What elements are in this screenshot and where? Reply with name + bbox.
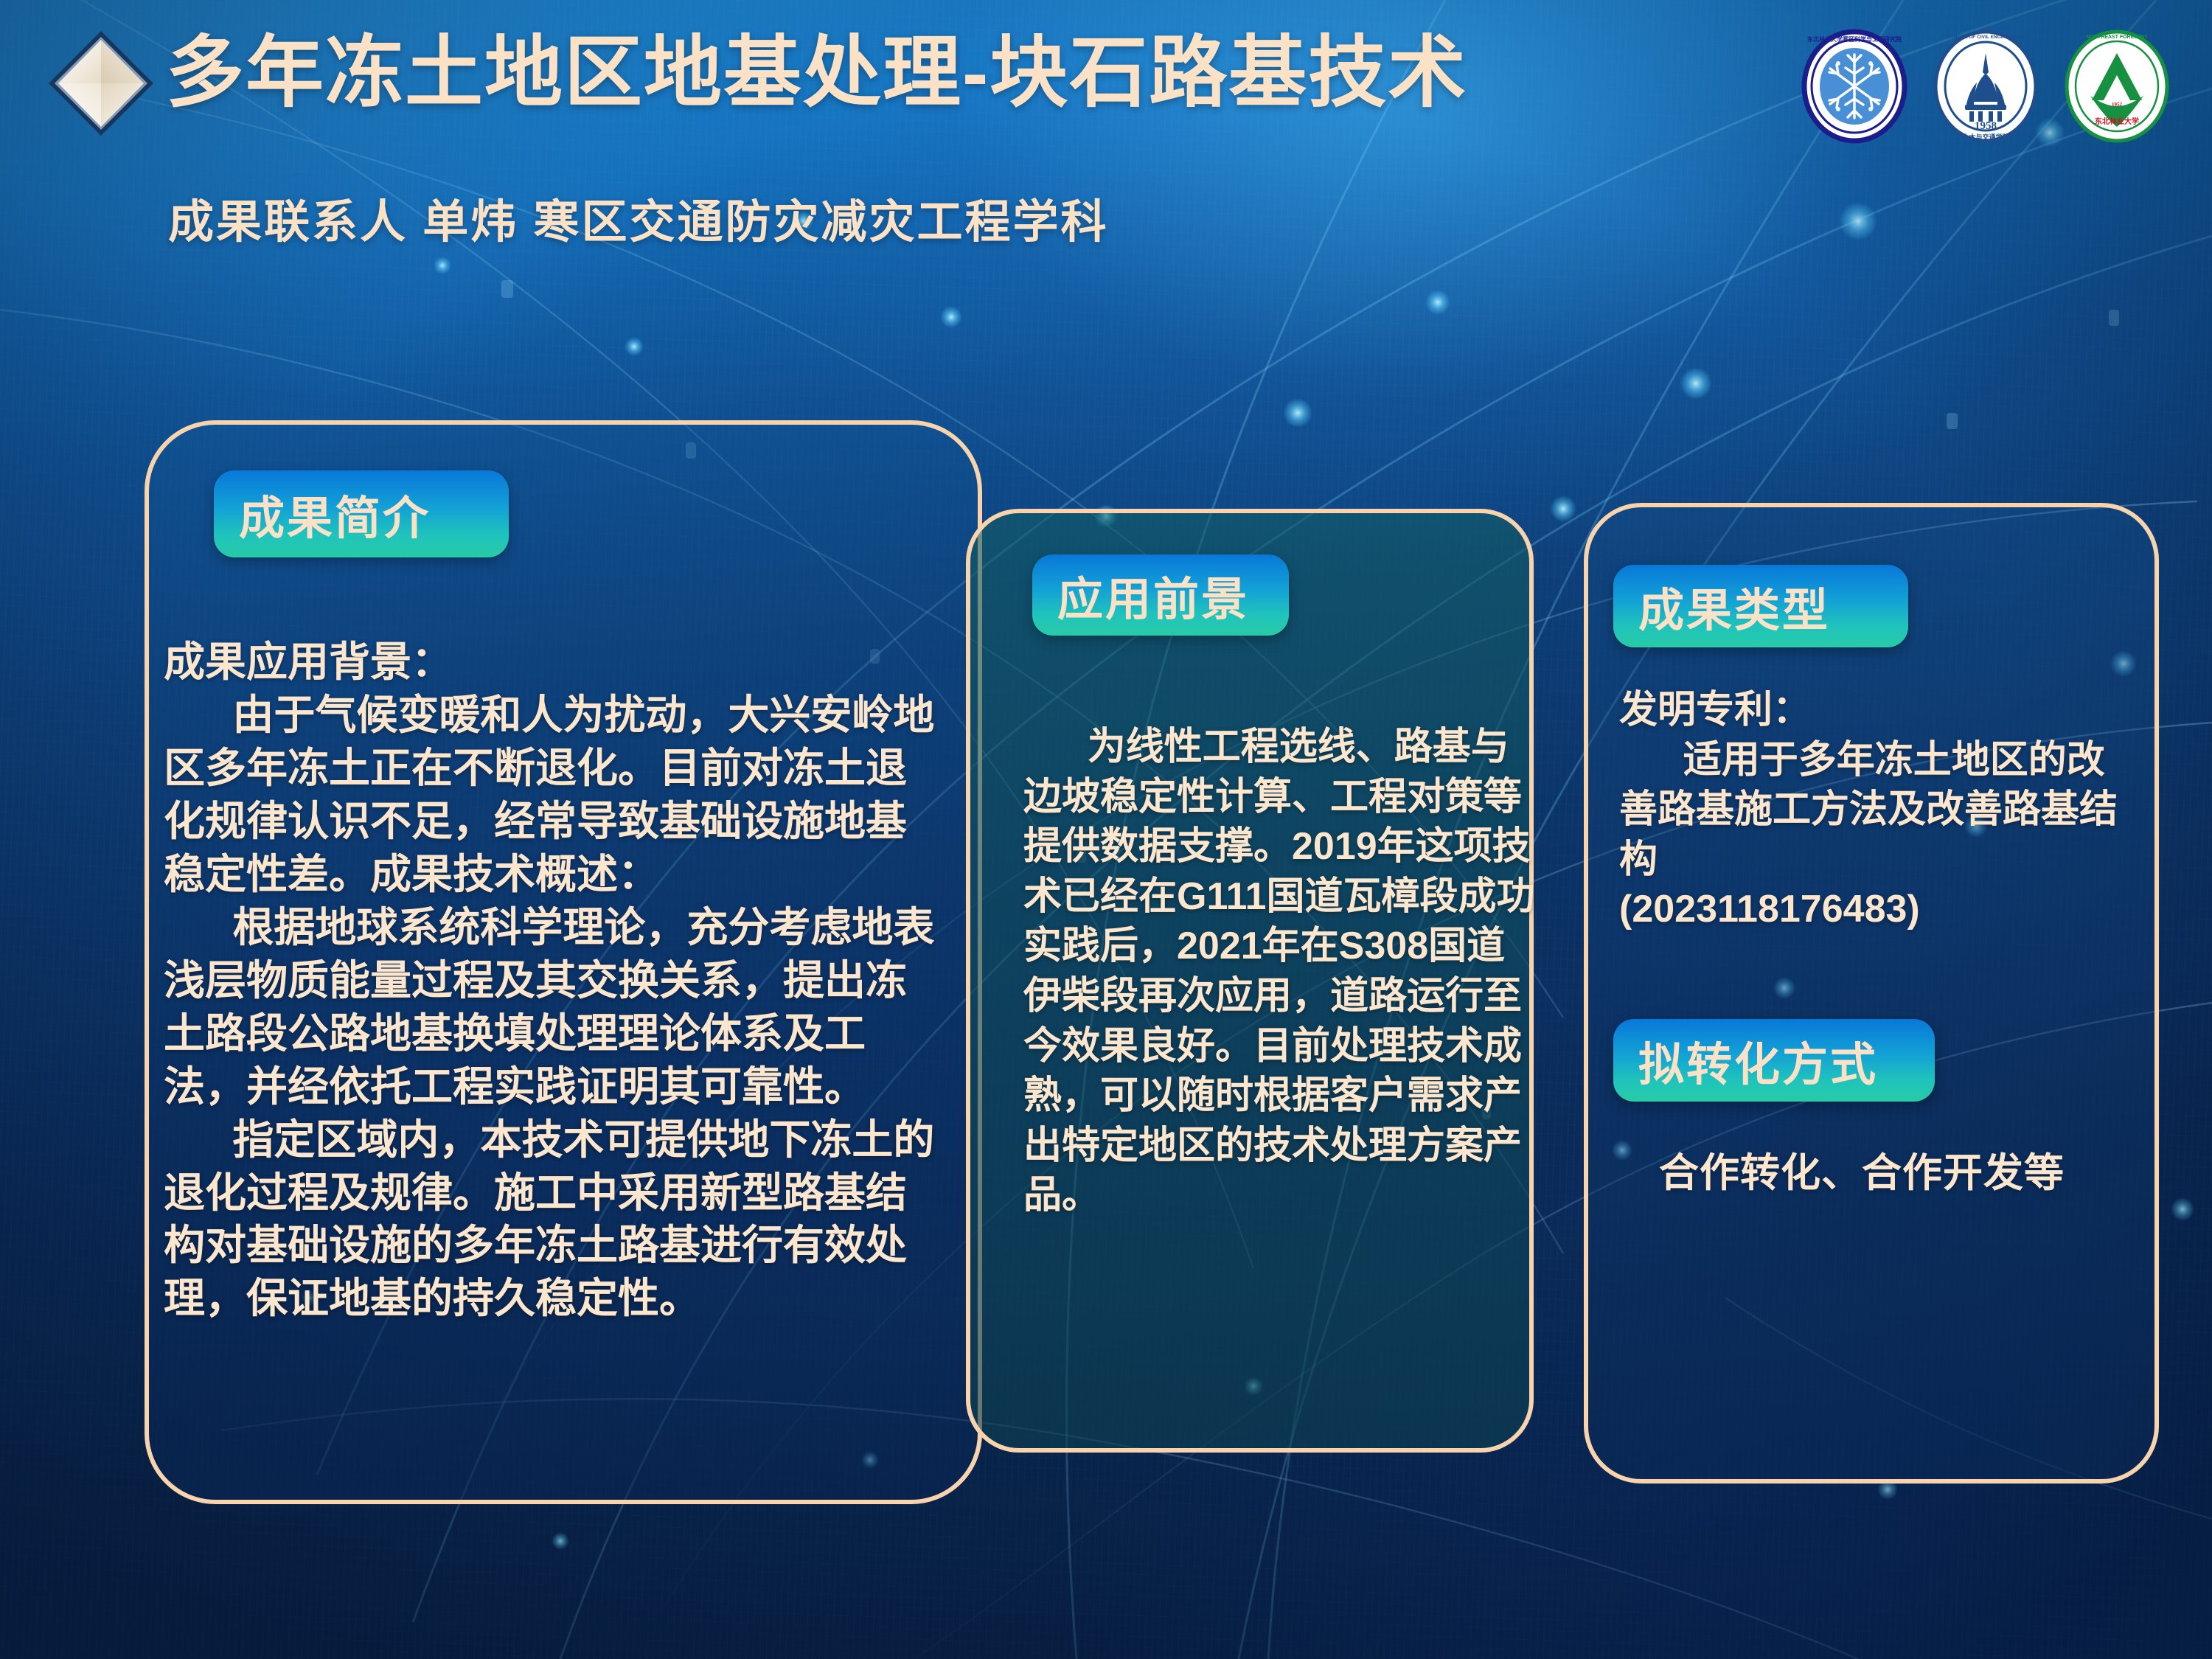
card-achievement-type <box>1584 503 2159 1484</box>
svg-text:土木与交通学院: 土木与交通学院 <box>1962 133 2008 141</box>
svg-text:东北林业大学: 东北林业大学 <box>2095 116 2139 126</box>
badge-transfer-method: 拟转化方式 <box>1613 1019 1935 1102</box>
text-application-prospect: 为线性工程选线、路基与边坡稳定性计算、工程对策等提供数据支撑。2019年这项技术… <box>1023 723 1540 1221</box>
text-achievement-type: 发明专利： 适用于多年冻土地区的改善路基施工方法及改善路基结构 (2023118… <box>1619 686 2135 935</box>
page-subtitle: 成果联系人 单炜 寒区交通防灾减灾工程学科 <box>168 184 1108 251</box>
text-achievement-intro: 成果应用背景： 由于气候变暖和人为扰动，大兴安岭地区多年冻土正在不断退化。目前对… <box>164 636 945 1325</box>
svg-text:1952: 1952 <box>2112 102 2123 108</box>
badge-application-prospect: 应用前景 <box>1032 554 1289 636</box>
text-transfer-method: 合作转化、合作开发等 <box>1659 1147 2146 1199</box>
page-title: 多年冻土地区地基处理-块石路基技术 <box>166 29 1467 117</box>
badge-achievement-type: 成果类型 <box>1613 565 1908 647</box>
diamond-gem-icon <box>46 28 156 139</box>
northeast-forestry-university-logo: 1952 东北林业大学 NORTHEAST FORESTRY <box>2062 28 2171 145</box>
slide-root: 多年冻土地区地基处理-块石路基技术 成果联系人 单炜 寒区交通防灾减灾工程学科 <box>0 0 2212 1659</box>
svg-text:NORTHEAST FORESTRY: NORTHEAST FORESTRY <box>2086 35 2148 40</box>
logo-group: 东北林业大学寒区科学与工程研究院 <box>1800 28 2171 145</box>
cold-region-science-engineering-institute-logo: 东北林业大学寒区科学与工程研究院 <box>1800 28 1909 145</box>
svg-text:SCHOOL OF CIVIL ENGINEERING: SCHOOL OF CIVIL ENGINEERING <box>1947 35 2025 40</box>
school-of-civil-engineering-and-transportation-logo: 1958 土木与交通学院 SCHOOL OF CIVIL ENGINEERING <box>1931 28 2040 145</box>
badge-achievement-intro: 成果简介 <box>214 470 509 557</box>
svg-text:1958: 1958 <box>1975 120 1997 132</box>
svg-text:东北林业大学寒区科学与工程研究院: 东北林业大学寒区科学与工程研究院 <box>1807 35 1902 43</box>
page-header: 多年冻土地区地基处理-块石路基技术 成果联系人 单炜 寒区交通防灾减灾工程学科 <box>0 0 2212 265</box>
